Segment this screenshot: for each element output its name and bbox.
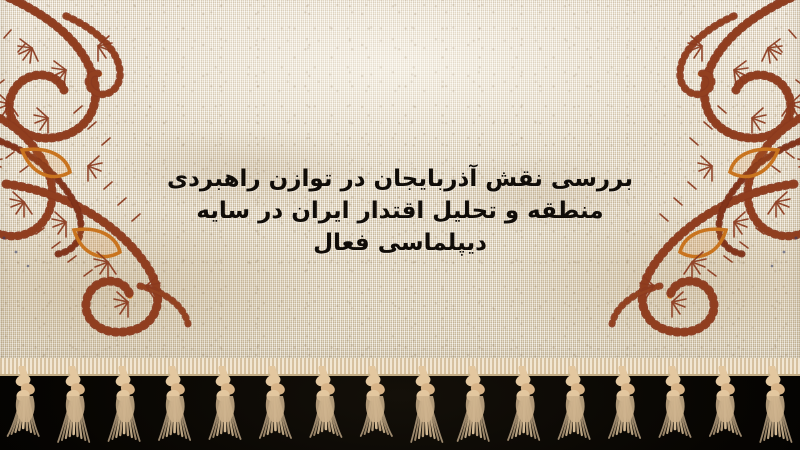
- tassel: [559, 368, 590, 439]
- tassel: [361, 368, 392, 436]
- title-line-2: منطقه و تحلیل اقتدار ایران در سایه: [0, 195, 800, 227]
- tassel: [310, 368, 341, 437]
- tassel: [260, 368, 291, 438]
- tassel: [159, 368, 190, 440]
- tassel: [760, 368, 791, 442]
- tassel: [609, 368, 640, 438]
- tassel: [508, 368, 539, 440]
- title-line-3: دیپلماسی فعال: [0, 227, 800, 259]
- tassel: [411, 368, 442, 442]
- slide-title: بررسی نقش آذربایجان در توازن راهبردی منط…: [0, 163, 800, 259]
- tassel: [710, 368, 741, 436]
- tassel: [458, 368, 489, 441]
- tassel: [8, 368, 39, 436]
- slide-canvas: بررسی نقش آذربایجان در توازن راهبردی منط…: [0, 0, 800, 450]
- tassel: [109, 368, 140, 441]
- tassel: [659, 368, 690, 437]
- tassel: [58, 368, 89, 442]
- tassel: [209, 368, 240, 439]
- title-line-1: بررسی نقش آذربایجان در توازن راهبردی: [0, 163, 800, 195]
- tassel-fringe: [0, 366, 800, 450]
